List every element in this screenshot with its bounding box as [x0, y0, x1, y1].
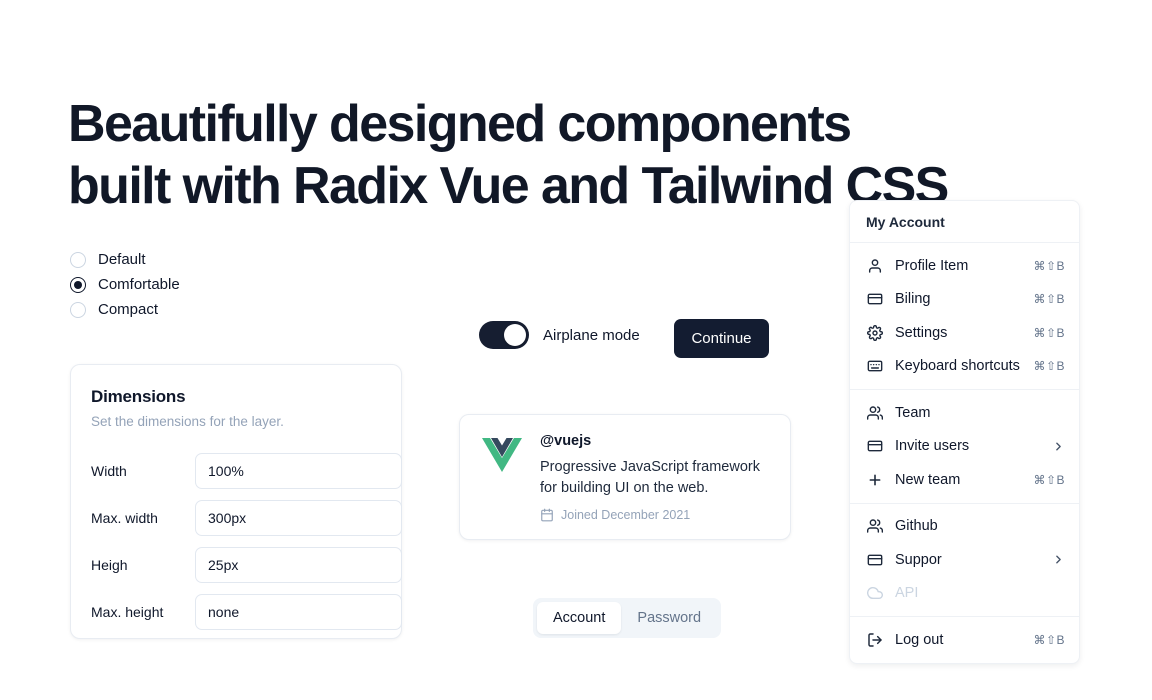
menu-item-label: Biling [895, 291, 1033, 307]
switch-thumb [504, 324, 526, 346]
credit-card-icon [866, 551, 883, 568]
account-dropdown-menu: My Account Profile Item ⌘⇧B Biling ⌘⇧B [849, 200, 1080, 664]
dimensions-subtitle: Set the dimensions for the layer. [91, 414, 381, 429]
field-label-max-width: Max. width [91, 510, 195, 526]
chevron-right-icon [1052, 440, 1065, 453]
menu-item-shortcut: ⌘⇧B [1033, 326, 1065, 340]
menu-item-label: Profile Item [895, 258, 1033, 274]
menu-group-session: Log out ⌘⇧B [850, 617, 1079, 663]
dimensions-field-row: Width [91, 447, 381, 494]
menu-item-shortcut: ⌘⇧B [1033, 259, 1065, 273]
dimensions-title: Dimensions [91, 387, 381, 407]
hover-card-joined-text: Joined December 2021 [561, 508, 690, 522]
page-title-line-1: Beautifully designed components [68, 93, 1028, 155]
dimensions-card: Dimensions Set the dimensions for the la… [70, 364, 402, 639]
airplane-mode-row: Airplane mode [479, 321, 640, 349]
field-label-height: Heigh [91, 557, 195, 573]
height-input[interactable] [195, 547, 402, 583]
menu-item-api: API [850, 577, 1079, 611]
menu-title: My Account [850, 201, 1079, 242]
menu-group-team: Team Invite users New team [850, 390, 1079, 503]
airplane-mode-switch[interactable] [479, 321, 529, 349]
menu-item-profile[interactable]: Profile Item ⌘⇧B [850, 249, 1079, 283]
radio-option-label: Compact [98, 301, 158, 318]
radio-option-comfortable[interactable]: Comfortable [70, 272, 300, 297]
airplane-mode-label: Airplane mode [543, 327, 640, 344]
menu-item-label: API [895, 585, 1065, 601]
radio-option-label: Comfortable [98, 276, 180, 293]
dimensions-field-row: Max. width [91, 494, 381, 541]
menu-item-label: Team [895, 405, 1065, 421]
menu-item-billing[interactable]: Biling ⌘⇧B [850, 283, 1079, 317]
radio-option-compact[interactable]: Compact [70, 297, 300, 322]
plus-icon [866, 471, 883, 488]
hover-card-joined-row: Joined December 2021 [540, 508, 772, 522]
max-width-input[interactable] [195, 500, 402, 536]
tab-password[interactable]: Password [621, 602, 717, 634]
menu-item-invite-users[interactable]: Invite users [850, 430, 1079, 464]
field-label-width: Width [91, 463, 195, 479]
menu-item-github[interactable]: Github [850, 510, 1079, 544]
user-icon [866, 257, 883, 274]
radio-option-label: Default [98, 251, 146, 268]
menu-item-label: New team [895, 472, 1033, 488]
menu-group-resources: Github Suppor API [850, 504, 1079, 617]
menu-item-shortcut: ⌘⇧B [1033, 292, 1065, 306]
radio-indicator-icon[interactable] [70, 252, 86, 268]
hover-card-handle: @vuejs [540, 433, 772, 449]
dimensions-field-list: Width Max. width Heigh Max. height [91, 447, 381, 635]
width-input[interactable] [195, 453, 402, 489]
menu-item-keyboard-shortcuts[interactable]: Keyboard shortcuts ⌘⇧B [850, 350, 1079, 384]
gear-icon [866, 324, 883, 341]
vue-logo-icon [480, 433, 524, 539]
users-icon [866, 518, 883, 535]
settings-tabs: Account Password [533, 598, 721, 638]
menu-item-label: Github [895, 518, 1065, 534]
menu-item-support[interactable]: Suppor [850, 543, 1079, 577]
field-label-max-height: Max. height [91, 604, 195, 620]
density-radio-group[interactable]: Default Comfortable Compact [70, 247, 300, 322]
continue-button[interactable]: Continue [674, 319, 769, 358]
hover-card-body: @vuejs Progressive JavaScript framework … [540, 433, 772, 539]
page-title: Beautifully designed components built wi… [68, 93, 1028, 217]
vuejs-hover-card: @vuejs Progressive JavaScript framework … [459, 414, 791, 540]
menu-item-label: Settings [895, 325, 1033, 341]
menu-item-label: Log out [895, 632, 1033, 648]
menu-item-label: Suppor [895, 552, 1052, 568]
menu-item-new-team[interactable]: New team ⌘⇧B [850, 463, 1079, 497]
logout-icon [866, 631, 883, 648]
menu-group-account: Profile Item ⌘⇧B Biling ⌘⇧B Settings ⌘⇧B [850, 243, 1079, 389]
keyboard-icon [866, 358, 883, 375]
credit-card-icon [866, 438, 883, 455]
users-icon [866, 404, 883, 421]
radio-option-default[interactable]: Default [70, 247, 300, 272]
menu-item-shortcut: ⌘⇧B [1033, 473, 1065, 487]
menu-item-log-out[interactable]: Log out ⌘⇧B [850, 623, 1079, 657]
dimensions-field-row: Max. height [91, 588, 381, 635]
menu-item-shortcut: ⌘⇧B [1033, 633, 1065, 647]
tab-account[interactable]: Account [537, 602, 621, 634]
menu-item-settings[interactable]: Settings ⌘⇧B [850, 316, 1079, 350]
credit-card-icon [866, 291, 883, 308]
max-height-input[interactable] [195, 594, 402, 630]
menu-item-label: Keyboard shortcuts [895, 358, 1033, 374]
cloud-icon [866, 585, 883, 602]
hover-card-description: Progressive JavaScript framework for bui… [540, 457, 772, 499]
radio-indicator-icon[interactable] [70, 302, 86, 318]
menu-item-label: Invite users [895, 438, 1052, 454]
menu-item-shortcut: ⌘⇧B [1033, 359, 1065, 373]
dimensions-field-row: Heigh [91, 541, 381, 588]
chevron-right-icon [1052, 553, 1065, 566]
radio-indicator-icon[interactable] [70, 277, 86, 293]
calendar-icon [540, 508, 554, 522]
menu-item-team[interactable]: Team [850, 396, 1079, 430]
